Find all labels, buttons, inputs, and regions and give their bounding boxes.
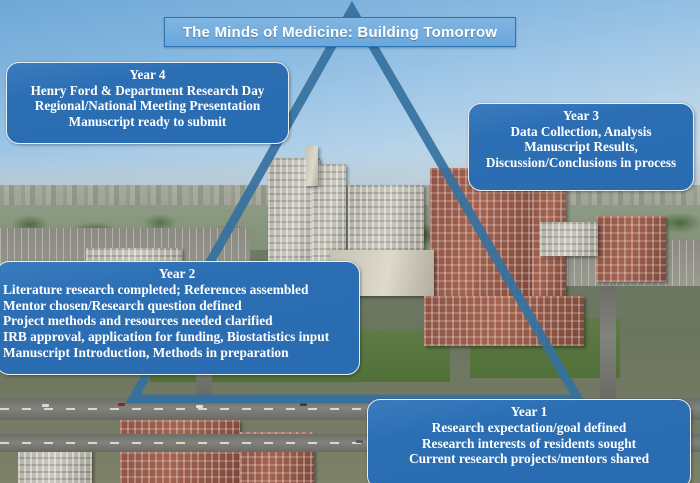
callout-box-year-1[interactable]: Year 1 Research expectation/goal defined… — [367, 399, 691, 483]
callout-box-year-2[interactable]: Year 2 Literature research completed; Re… — [0, 261, 360, 375]
year-1-line-3: Current research projects/mentors shared — [376, 451, 682, 467]
year-2-line-1: Literature research completed; Reference… — [3, 282, 351, 298]
year-1-heading: Year 1 — [376, 404, 682, 420]
year-3-line-2: Manuscript Results, — [477, 139, 685, 155]
year-3-line-1: Data Collection, Analysis — [477, 124, 685, 140]
year-4-line-1: Henry Ford & Department Research Day — [15, 83, 280, 99]
year-4-heading: Year 4 — [15, 67, 280, 83]
year-2-line-3: Project methods and resources needed cla… — [3, 313, 351, 329]
callout-box-year-4[interactable]: Year 4 Henry Ford & Department Research … — [6, 62, 289, 144]
year-1-line-2: Research interests of residents sought — [376, 436, 682, 452]
slide-canvas: The Minds of Medicine: Building Tomorrow… — [0, 0, 700, 483]
year-2-line-2: Mentor chosen/Research question defined — [3, 298, 351, 314]
year-2-heading: Year 2 — [3, 266, 351, 282]
year-2-line-5: Manuscript Introduction, Methods in prep… — [3, 345, 351, 361]
slide-title-banner: The Minds of Medicine: Building Tomorrow — [164, 17, 516, 47]
year-2-line-4: IRB approval, application for funding, B… — [3, 329, 351, 345]
year-1-line-1: Research expectation/goal defined — [376, 420, 682, 436]
year-4-line-2: Regional/National Meeting Presentation — [15, 98, 280, 114]
year-4-line-3: Manuscript ready to submit — [15, 114, 280, 130]
year-3-line-3: Discussion/Conclusions in process — [477, 155, 685, 171]
year-3-heading: Year 3 — [477, 108, 685, 124]
callout-box-year-3[interactable]: Year 3 Data Collection, Analysis Manuscr… — [468, 103, 694, 191]
